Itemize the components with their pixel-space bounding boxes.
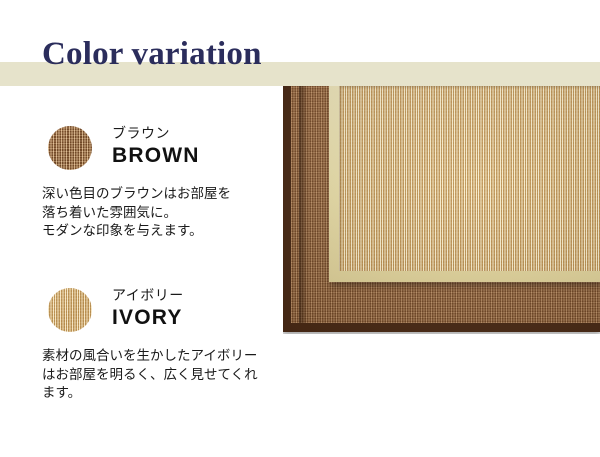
description-line: 落ち着いた雰囲気に。: [42, 204, 231, 223]
color-label-jp-ivory: アイボリー: [112, 285, 184, 305]
ivory-bordered-rug: [329, 86, 600, 282]
description-line: ます。: [42, 384, 258, 403]
description-line: モダンな印象を与えます。: [42, 222, 231, 241]
description-line: はお部屋を明るく、広く見せてくれ: [42, 366, 258, 385]
color-label-en-ivory: IVORY: [112, 306, 183, 330]
rug-edge-shadow: [299, 86, 308, 323]
description-line: 深い色目のブラウンはお部屋を: [42, 185, 231, 204]
rug-color-variation-photo: [283, 86, 600, 334]
swatch-row-brown: ブラウン BROWN: [0, 120, 283, 172]
ivory-rug-woven-field: [339, 86, 600, 271]
color-block-brown: ブラウン BROWN 深い色目のブラウンはお部屋を 落ち着いた雰囲気に。 モダン…: [0, 120, 283, 172]
description-line: 素材の風合いを生かしたアイボリー: [42, 347, 258, 366]
brown-fabric-swatch: [48, 126, 92, 170]
swatch-row-ivory: アイボリー IVORY: [0, 282, 283, 334]
color-description-ivory: 素材の風合いを生かしたアイボリー はお部屋を明るく、広く見せてくれ ます。: [42, 347, 258, 403]
color-label-jp-brown: ブラウン: [112, 123, 170, 143]
color-block-ivory: アイボリー IVORY 素材の風合いを生かしたアイボリー はお部屋を明るく、広く…: [0, 282, 283, 334]
color-description-brown: 深い色目のブラウンはお部屋を 落ち着いた雰囲気に。 モダンな印象を与えます。: [42, 185, 231, 241]
ivory-fabric-swatch: [48, 288, 92, 332]
page-title: Color variation: [42, 36, 262, 73]
color-label-en-brown: BROWN: [112, 144, 200, 168]
color-variation-page: Color variation ブラウン BROWN 深い色目のブラウンはお部屋…: [0, 0, 600, 457]
